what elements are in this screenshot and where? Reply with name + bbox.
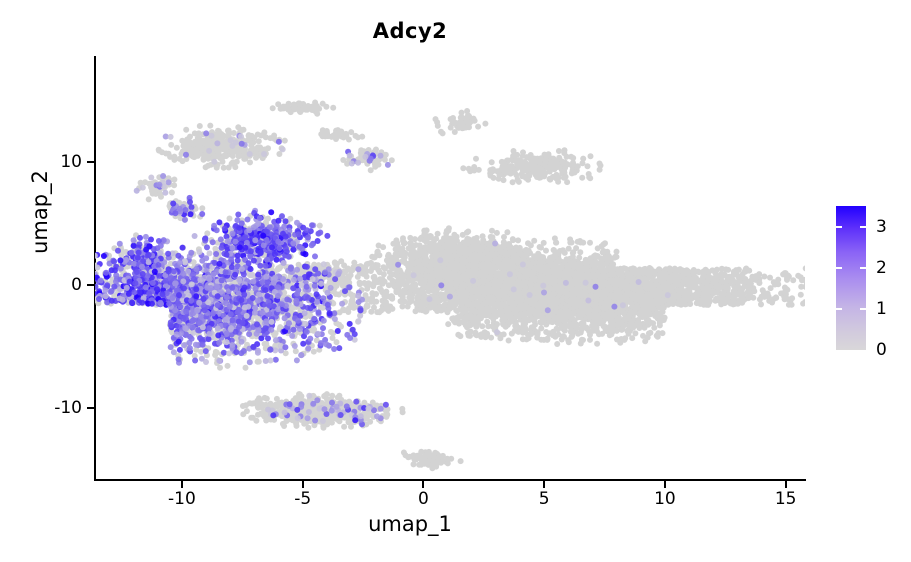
- x-axis-label: umap_1: [0, 512, 820, 536]
- y-tick-label: 0: [71, 275, 82, 295]
- scatter-plot-area: [95, 57, 805, 480]
- colorbar-tick-mark: [836, 267, 842, 269]
- x-tick-label: -10: [168, 489, 196, 509]
- x-tick-mark: [543, 481, 545, 488]
- x-tick-mark: [785, 481, 787, 488]
- umap-feature-plot-figure: Adcy2 -10-5051015 -10010 umap_1 umap_2 0…: [0, 0, 911, 562]
- y-tick-mark: [87, 284, 95, 286]
- y-tick-label: -10: [54, 398, 82, 418]
- x-tick-mark: [422, 481, 424, 488]
- y-axis-label: umap_2: [28, 112, 52, 312]
- x-tick-label: 0: [418, 489, 429, 509]
- colorbar-tick-mark: [860, 226, 866, 228]
- colorbar-tick-label: 3: [876, 217, 887, 237]
- colorbar-tick-mark: [860, 308, 866, 310]
- x-tick-label: -5: [294, 489, 311, 509]
- colorbar-tick-mark: [860, 267, 866, 269]
- colorbar-tick-label: 1: [876, 299, 887, 319]
- y-tick-mark: [87, 161, 95, 163]
- colorbar-tick-label: 0: [876, 340, 887, 360]
- colorbar-tick-label: 2: [876, 258, 887, 278]
- colorbar-gradient: [836, 206, 866, 350]
- x-tick-label: 15: [775, 489, 797, 509]
- colorbar-tick-mark: [836, 226, 842, 228]
- x-tick-mark: [181, 481, 183, 488]
- x-tick-label: 5: [539, 489, 550, 509]
- y-tick-label: 10: [60, 152, 82, 172]
- x-tick-mark: [302, 481, 304, 488]
- y-tick-mark: [87, 407, 95, 409]
- x-tick-mark: [664, 481, 666, 488]
- page-title: Adcy2: [0, 19, 820, 43]
- scatter-points-layer: [95, 57, 805, 480]
- x-tick-label: 10: [654, 489, 676, 509]
- colorbar-tick-mark: [836, 308, 842, 310]
